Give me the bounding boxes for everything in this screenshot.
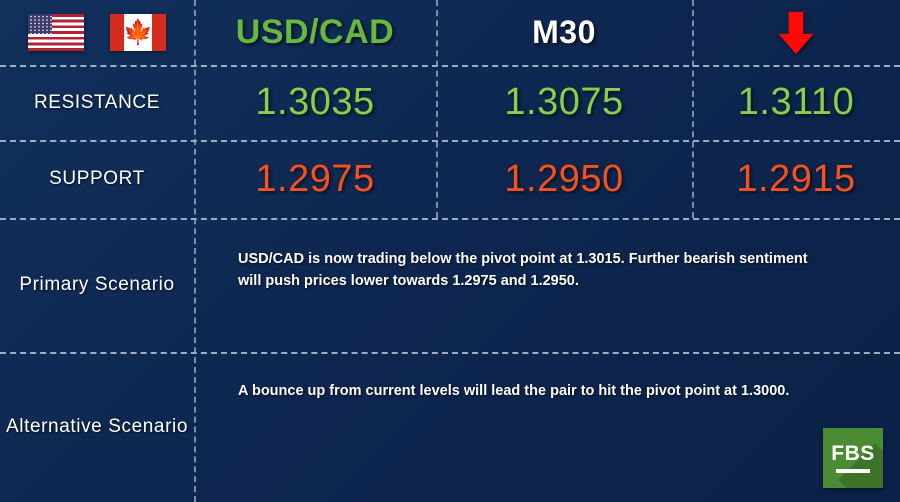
support-value-cell-3: 1.2915: [692, 140, 900, 218]
flag-usa-stars: [28, 14, 52, 34]
fbs-logo: FBS: [823, 428, 883, 488]
flag-pair: 🍁: [28, 14, 166, 51]
primary-scenario-text: USD/CAD is now trading below the pivot p…: [238, 248, 813, 293]
resistance-value-cell-2: 1.3075: [436, 65, 692, 140]
flag-usa-icon: [28, 14, 84, 51]
resistance-value-cell-3: 1.3110: [692, 65, 900, 140]
arrow-down-icon: [773, 10, 819, 56]
flag-canada-left-bar: [110, 14, 124, 51]
resistance-value-3: 1.3110: [738, 81, 854, 124]
resistance-value-2: 1.3075: [504, 81, 623, 124]
support-label-cell: SUPPORT: [0, 140, 194, 218]
maple-leaf-icon: 🍁: [123, 21, 153, 45]
trend-indicator-cell: [692, 0, 900, 65]
support-label: SUPPORT: [49, 166, 145, 192]
resistance-value-1: 1.3035: [255, 81, 374, 124]
currency-pair-cell: USD/CAD: [194, 0, 436, 65]
timeframe-label: M30: [532, 14, 596, 51]
fbs-logo-text: FBS: [831, 443, 875, 464]
currency-pair-title: USD/CAD: [236, 13, 394, 52]
flag-canada-right-bar: [152, 14, 166, 51]
support-value-cell-1: 1.2975: [194, 140, 436, 218]
resistance-label-cell: RESISTANCE: [0, 65, 194, 140]
support-value-cell-2: 1.2950: [436, 140, 692, 218]
support-value-1: 1.2975: [255, 158, 374, 201]
support-value-2: 1.2950: [504, 158, 623, 201]
support-value-3: 1.2915: [736, 158, 855, 201]
flag-canada-icon: 🍁: [110, 14, 166, 51]
resistance-value-cell-1: 1.3035: [194, 65, 436, 140]
resistance-label: RESISTANCE: [34, 90, 160, 116]
forex-signal-card: 🍁 USD/CAD M30 RESISTANCE 1.3035 1.3075 1…: [0, 0, 900, 502]
alternative-scenario-label-cell: Alternative Scenario: [0, 352, 194, 502]
currency-flags-cell: 🍁: [0, 0, 194, 65]
fbs-logo-underline: [836, 469, 870, 473]
primary-scenario-label: Primary Scenario: [19, 272, 174, 298]
alternative-scenario-label: Alternative Scenario: [6, 414, 188, 440]
alternative-scenario-text: A bounce up from current levels will lea…: [238, 380, 818, 402]
timeframe-cell: M30: [436, 0, 692, 65]
primary-scenario-label-cell: Primary Scenario: [0, 218, 194, 352]
